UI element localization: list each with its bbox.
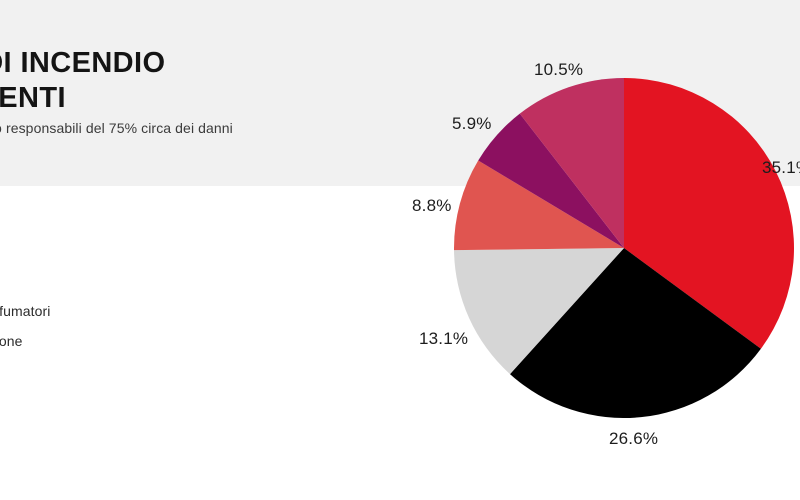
legend-item-label: ticoli per fumatori [0,302,51,320]
legend-item-1[interactable]: combustione [0,326,272,356]
title-line-2: QUENTI [0,81,414,116]
pie-label-13: 13.1% [419,329,468,349]
pie-label-10: 10.5% [534,60,583,80]
pie-label-8: 8.8% [412,196,452,216]
legend-item-label: combustione [0,332,22,350]
legend-item-0[interactable]: ticoli per fumatori [0,296,272,326]
pie-label-26: 26.6% [609,429,658,449]
legend-item-2[interactable]: osciute [0,356,272,386]
page-subtitle: ti sono responsabili del 75% circa dei d… [0,119,233,137]
pie-chart-svg [454,78,794,418]
infographic-canvas: E DI INCENDIO QUENTI ti sono responsabil… [0,0,800,500]
page-title: E DI INCENDIO QUENTI [0,46,414,116]
chart-legend: ticoli per fumatori combustione osciute [0,296,272,386]
pie-chart [454,78,794,418]
pie-label-35: 35.1% [762,158,800,178]
pie-label-5: 5.9% [452,114,492,134]
title-line-1: E DI INCENDIO [0,46,414,81]
